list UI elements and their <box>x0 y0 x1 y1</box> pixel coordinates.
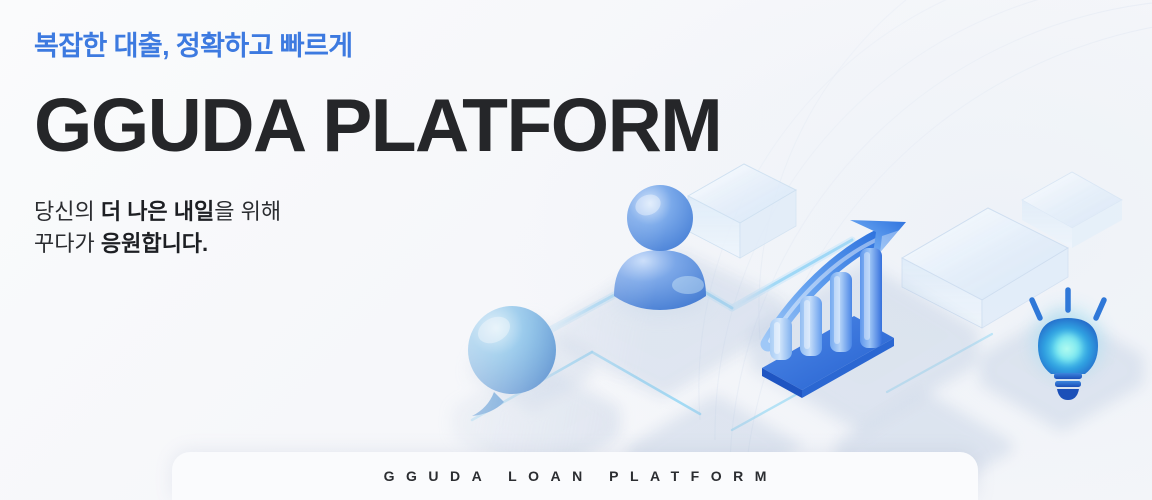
subcopy-l2-bold: 응원합니다. <box>101 231 208 256</box>
bar-2 <box>800 296 822 356</box>
bar-4 <box>860 248 882 348</box>
hero-banner: 복잡한 대출, 정확하고 빠르게 GGUDA PLATFORM 당신의 더 나은… <box>0 0 1152 500</box>
hero-subcopy: 당신의 더 나은 내일을 위해 꾸다가 응원합니다. <box>34 196 594 260</box>
glass-cube <box>688 164 796 258</box>
footer-brand-text: GGUDA LOAN PLATFORM <box>372 468 778 484</box>
subcopy-l1-plain-a: 당신의 <box>34 199 101 224</box>
subcopy-l1-plain-b: 을 위해 <box>214 199 281 224</box>
footer-brand-bar: GGUDA LOAN PLATFORM <box>172 452 978 500</box>
bar-3 <box>830 272 852 352</box>
hero-copy-block: 복잡한 대출, 정확하고 빠르게 GGUDA PLATFORM 당신의 더 나은… <box>34 30 594 260</box>
subcopy-l1-bold: 더 나은 내일 <box>101 199 214 224</box>
hero-subcopy-line-1: 당신의 더 나은 내일을 위해 <box>34 196 594 228</box>
hero-subcopy-line-2: 꾸다가 응원합니다. <box>34 228 594 260</box>
hero-tagline: 복잡한 대출, 정확하고 빠르게 <box>34 30 594 64</box>
subcopy-l2-plain-a: 꾸다가 <box>34 231 101 256</box>
bar-1 <box>770 318 792 360</box>
page-title: GGUDA PLATFORM <box>34 88 594 163</box>
